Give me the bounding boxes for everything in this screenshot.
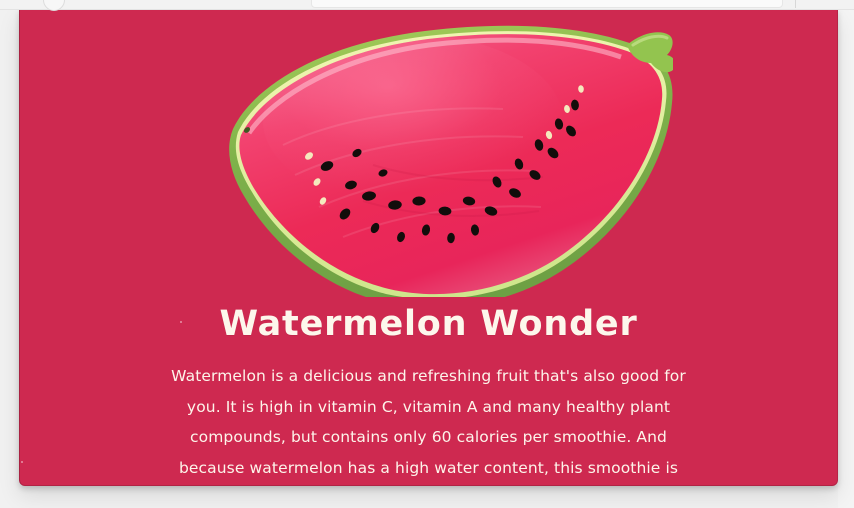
card-text-block: Watermelon Wonder Watermelon is a delici… <box>19 301 838 486</box>
page-title: Watermelon Wonder <box>19 301 838 347</box>
description-paragraph: Watermelon is a delicious and refreshing… <box>156 361 702 486</box>
toolbar-divider-icon <box>795 0 796 8</box>
watermelon-card: Watermelon Wonder Watermelon is a delici… <box>19 9 838 486</box>
watermelon-slice-image <box>223 25 673 297</box>
capture-artifact <box>21 461 23 463</box>
page-viewport: Watermelon Wonder Watermelon is a delici… <box>0 0 854 508</box>
browser-toolbar <box>0 0 854 10</box>
hero-image-area <box>19 9 838 299</box>
circle-menu-icon[interactable] <box>43 0 65 11</box>
capture-artifact <box>180 321 182 323</box>
url-input[interactable] <box>311 0 783 8</box>
page-scrollbar-track[interactable] <box>838 9 854 508</box>
